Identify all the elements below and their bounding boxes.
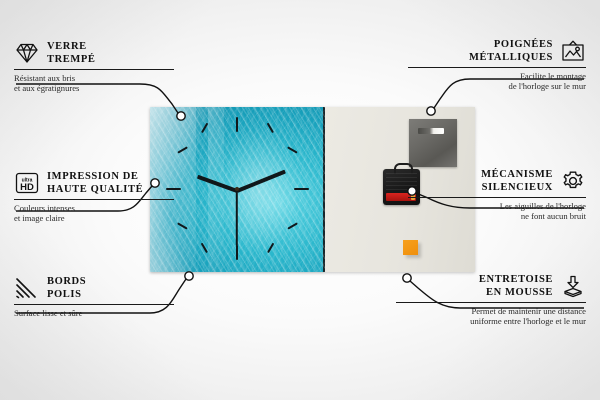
polished-edge-icon xyxy=(14,276,40,300)
callout-header: POIGNÉES MÉTALLIQUES xyxy=(408,38,586,64)
callout-subtitle-line1: Facilite le montage xyxy=(408,71,586,81)
gear-icon xyxy=(560,169,586,193)
callout-rule xyxy=(408,197,586,198)
infographic-canvas: VERRE TREMPÉ Résistant aux bris et aux é… xyxy=(0,0,600,400)
callout-title: ENTRETOISE EN MOUSSE xyxy=(479,273,553,299)
hour-marker xyxy=(236,117,238,132)
callout-header: ultra HD IMPRESSION DE HAUTE QUALITÉ xyxy=(14,170,184,196)
hanger-slot xyxy=(418,128,444,134)
callout-rule xyxy=(14,304,174,305)
callout-subtitle-line1: Les aiguilles de l'horloge xyxy=(408,201,586,211)
diamond-icon xyxy=(14,41,40,65)
callout-impression-haute-qualite: ultra HD IMPRESSION DE HAUTE QUALITÉ Cou… xyxy=(14,170,184,224)
callout-subtitle-line2: et aux égratignures xyxy=(14,83,184,93)
callout-subtitle-line2: ne font aucun bruit xyxy=(408,211,586,221)
callout-rule xyxy=(408,67,586,68)
callout-title: MÉCANISME SILENCIEUX xyxy=(481,168,553,194)
foam-spacer xyxy=(403,240,418,255)
hour-marker xyxy=(236,245,238,260)
callout-header: BORDS POLIS xyxy=(14,275,184,301)
svg-text:HD: HD xyxy=(20,182,34,193)
callout-subtitle-line2: de l'horloge sur le mur xyxy=(408,81,586,91)
callout-header: ENTRETOISE EN MOUSSE xyxy=(396,273,586,299)
callout-header: MÉCANISME SILENCIEUX xyxy=(408,168,586,194)
ultra-hd-icon: ultra HD xyxy=(14,171,40,195)
callout-verre-trempe: VERRE TREMPÉ Résistant aux bris et aux é… xyxy=(14,40,184,94)
callout-rule xyxy=(396,302,586,303)
callout-entretoise-en-mousse: ENTRETOISE EN MOUSSE Permet de maintenir… xyxy=(396,273,586,327)
callout-title: VERRE TREMPÉ xyxy=(47,40,96,66)
foam-spacer-icon xyxy=(560,274,586,298)
callout-title: POIGNÉES MÉTALLIQUES xyxy=(469,38,553,64)
hour-marker xyxy=(294,188,309,190)
callout-subtitle-line1: Permet de maintenir une distance xyxy=(396,306,586,316)
callout-subtitle-line1: Surface lisse et sûre xyxy=(14,308,184,318)
callout-subtitle-line1: Couleurs intenses xyxy=(14,203,184,213)
glass-reflection-secondary xyxy=(208,107,224,272)
clock-hub xyxy=(235,187,239,191)
callout-header: VERRE TREMPÉ xyxy=(14,40,184,66)
callout-rule xyxy=(14,199,174,200)
callout-title: BORDS POLIS xyxy=(47,275,86,301)
callout-subtitle-line2: et image claire xyxy=(14,213,184,223)
callout-title: IMPRESSION DE HAUTE QUALITÉ xyxy=(47,170,143,196)
callout-subtitle-line1: Résistant aux bris xyxy=(14,73,184,83)
callout-bords-polis: BORDS POLIS Surface lisse et sûre xyxy=(14,275,184,318)
picture-hanger-icon xyxy=(560,39,586,63)
callout-poignees-metalliques: POIGNÉES MÉTALLIQUES Facilite le montage… xyxy=(408,38,586,92)
callout-subtitle-line2: uniforme entre l'horloge et le mur xyxy=(396,316,586,326)
callout-mecanisme-silencieux: MÉCANISME SILENCIEUX Les aiguilles de l'… xyxy=(408,168,586,222)
metal-hanger-plate xyxy=(409,119,457,167)
callout-rule xyxy=(14,69,174,70)
second-hand xyxy=(236,190,238,245)
